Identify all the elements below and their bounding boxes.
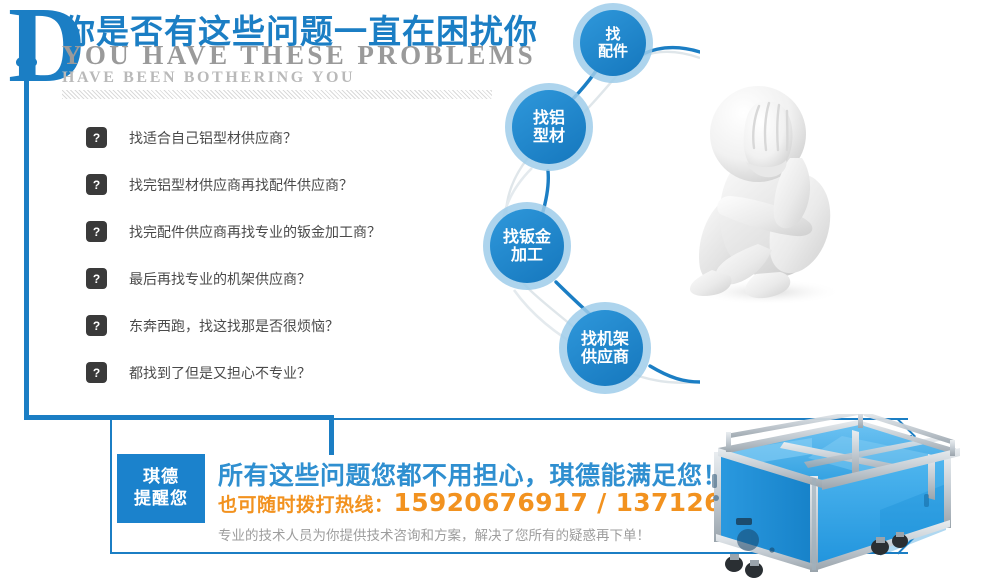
question-item: ?找完配件供应商再找专业的钣金加工商？: [86, 220, 466, 243]
blue-aluminium-frame-workstation: [692, 414, 982, 579]
question-text: 找适合自己铝型材供应商？: [129, 128, 297, 148]
node-label-line: 找钣金: [503, 228, 551, 246]
hotline-label: 也可随时拨打热线：: [218, 494, 394, 516]
question-item: ?东奔西跑，找这找那是否很烦恼？: [86, 314, 466, 337]
subtitle-line-2: HAVE BEEN BOTHERING YOU: [62, 69, 355, 87]
node-label: 找机架供应商: [581, 330, 629, 366]
frustrated-3d-character: [660, 78, 870, 308]
header-divider: [62, 90, 492, 99]
node-label: 找钣金加工: [503, 228, 551, 264]
node-label-line: 找: [598, 26, 628, 43]
node-label-line: 加工: [503, 246, 551, 264]
node-label-line: 找铝: [533, 109, 565, 127]
cta-headline: 所有这些问题您都不用担心，琪德能满足您！: [218, 456, 728, 492]
node-label: 找配件: [598, 26, 628, 60]
node-label-line: 找机架: [581, 330, 629, 348]
question-item: ?都找到了但是又担心不专业？: [86, 361, 466, 384]
subtitle-line-1: YOU HAVE THESE PROBLEMS: [62, 40, 536, 71]
question-text: 最后再找专业的机架供应商？: [129, 269, 311, 289]
node-parts[interactable]: 找配件: [573, 3, 653, 83]
brand-name: 琪德: [143, 467, 179, 488]
question-mark-icon: ?: [86, 221, 107, 242]
question-item: ?找完铝型材供应商再找配件供应商？: [86, 173, 466, 196]
node-label-line: 供应商: [581, 348, 629, 366]
node-aluminium[interactable]: 找铝型材: [505, 83, 593, 171]
node-rack[interactable]: 找机架供应商: [559, 302, 651, 394]
node-label-line: 型材: [533, 127, 565, 145]
question-item: ?找适合自己铝型材供应商？: [86, 126, 466, 149]
question-mark-icon: ?: [86, 268, 107, 289]
question-item: ?最后再找专业的机架供应商？: [86, 267, 466, 290]
promo-banner-stage: D 你是否有这些问题一直在困扰你 YOU HAVE THESE PROBLEMS…: [0, 0, 982, 579]
question-text: 找完配件供应商再找专业的钣金加工商？: [129, 222, 381, 242]
question-mark-icon: ?: [86, 127, 107, 148]
question-text: 找完铝型材供应商再找配件供应商？: [129, 175, 353, 195]
question-text: 都找到了但是又担心不专业？: [129, 363, 311, 383]
banner-border-left: [110, 418, 112, 554]
brand-reminder-badge: 琪德 提醒您: [117, 454, 205, 523]
cta-subtext: 专业的技术人员为你提供技术咨询和方案，解决了您所有的疑惑再下单！: [218, 524, 650, 544]
bracket-vertical: [24, 62, 29, 420]
question-mark-icon: ?: [86, 362, 107, 383]
question-mark-icon: ?: [86, 315, 107, 336]
question-mark-icon: ?: [86, 174, 107, 195]
brand-reminder: 提醒您: [134, 489, 188, 510]
question-list: ?找适合自己铝型材供应商？?找完铝型材供应商再找配件供应商？?找完配件供应商再找…: [86, 126, 466, 408]
question-text: 东奔西跑，找这找那是否很烦恼？: [129, 316, 339, 336]
node-label: 找铝型材: [533, 109, 565, 145]
node-sheetmetal[interactable]: 找钣金加工: [483, 202, 571, 290]
node-label-line: 配件: [598, 43, 628, 60]
